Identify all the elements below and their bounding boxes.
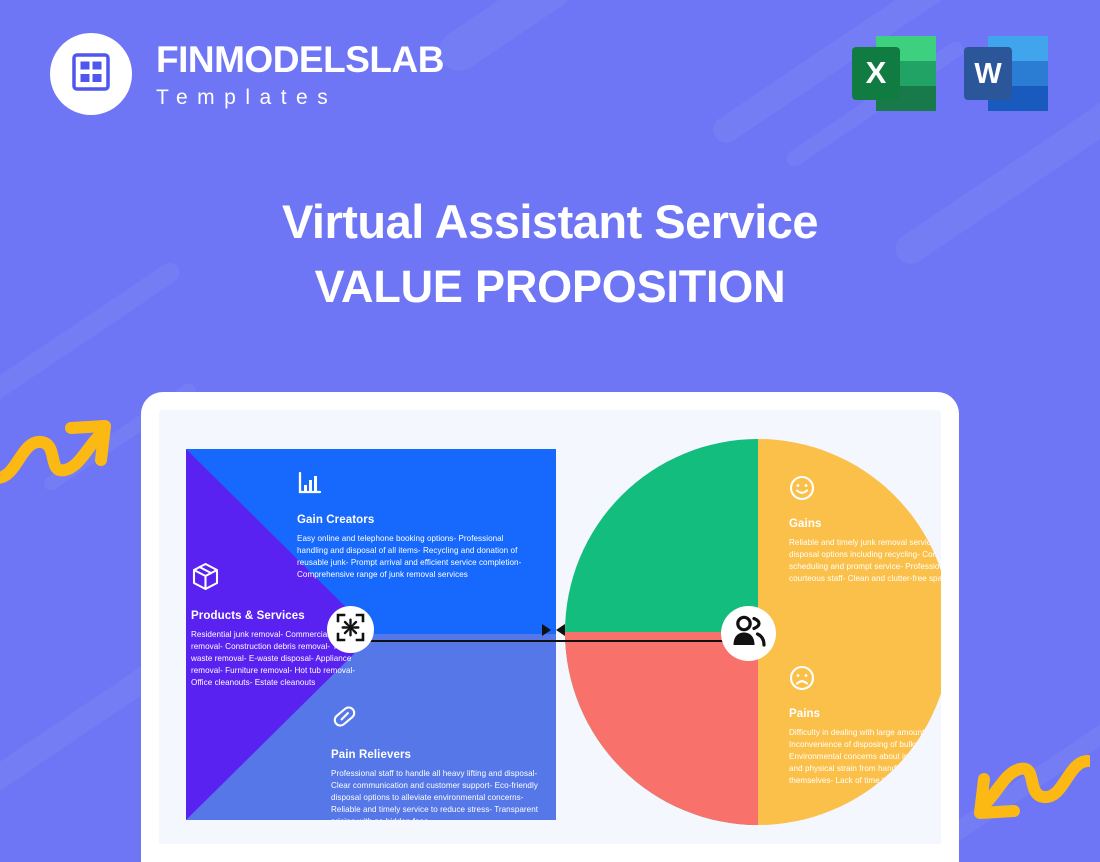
pill-icon (331, 703, 541, 735)
pains-block: Pains Difficulty in dealing with large a… (789, 665, 941, 787)
format-icons: X W (850, 34, 1050, 119)
arrow-head-left-icon (552, 622, 568, 643)
smiley-happy-icon (789, 475, 941, 506)
gains-body: Reliable and timely junk removal service… (789, 537, 941, 585)
page-title-block: Virtual Assistant Service VALUE PROPOSIT… (0, 196, 1100, 312)
pains-title: Pains (789, 708, 941, 720)
box-icon (191, 562, 367, 596)
pain-relievers-body: Professional staff to handle all heavy l… (331, 768, 541, 820)
pain-relievers-block: Pain Relievers Professional staff to han… (331, 703, 541, 820)
brand-tagline: Templates (156, 87, 444, 108)
brand-logo-text: FINMODELSLAB Templates (156, 41, 444, 108)
gains-block: Gains Reliable and timely junk removal s… (789, 475, 941, 585)
smiley-sad-icon (789, 665, 941, 696)
svg-text:W: W (974, 58, 1002, 90)
page-title: Virtual Assistant Service (0, 196, 1100, 249)
value-map-fit-badge[interactable] (327, 606, 374, 653)
gains-title: Gains (789, 518, 941, 530)
pain-relievers-title: Pain Relievers (331, 749, 541, 761)
excel-icon[interactable]: X (850, 34, 938, 119)
background-brush-stroke (432, 0, 579, 79)
page-subtitle: VALUE PROPOSITION (0, 262, 1100, 312)
grid-squares-icon (69, 50, 113, 99)
squiggle-arrow-down-left-icon (965, 753, 1090, 836)
pains-body: Difficulty in dealing with large amounts… (789, 727, 941, 787)
customer-people-icon (731, 615, 767, 653)
word-icon[interactable]: W (962, 34, 1050, 119)
logo-badge (50, 33, 132, 115)
svg-text:X: X (866, 55, 887, 90)
customer-badge[interactable] (721, 606, 776, 661)
brand-name: FINMODELSLAB (156, 41, 444, 78)
bar-chart-icon (297, 470, 533, 500)
brand-logo[interactable]: FINMODELSLAB Templates (50, 33, 444, 115)
gain-creators-title: Gain Creators (297, 514, 533, 526)
value-map-fit-icon (335, 612, 366, 648)
squiggle-arrow-up-right-icon (0, 408, 120, 491)
